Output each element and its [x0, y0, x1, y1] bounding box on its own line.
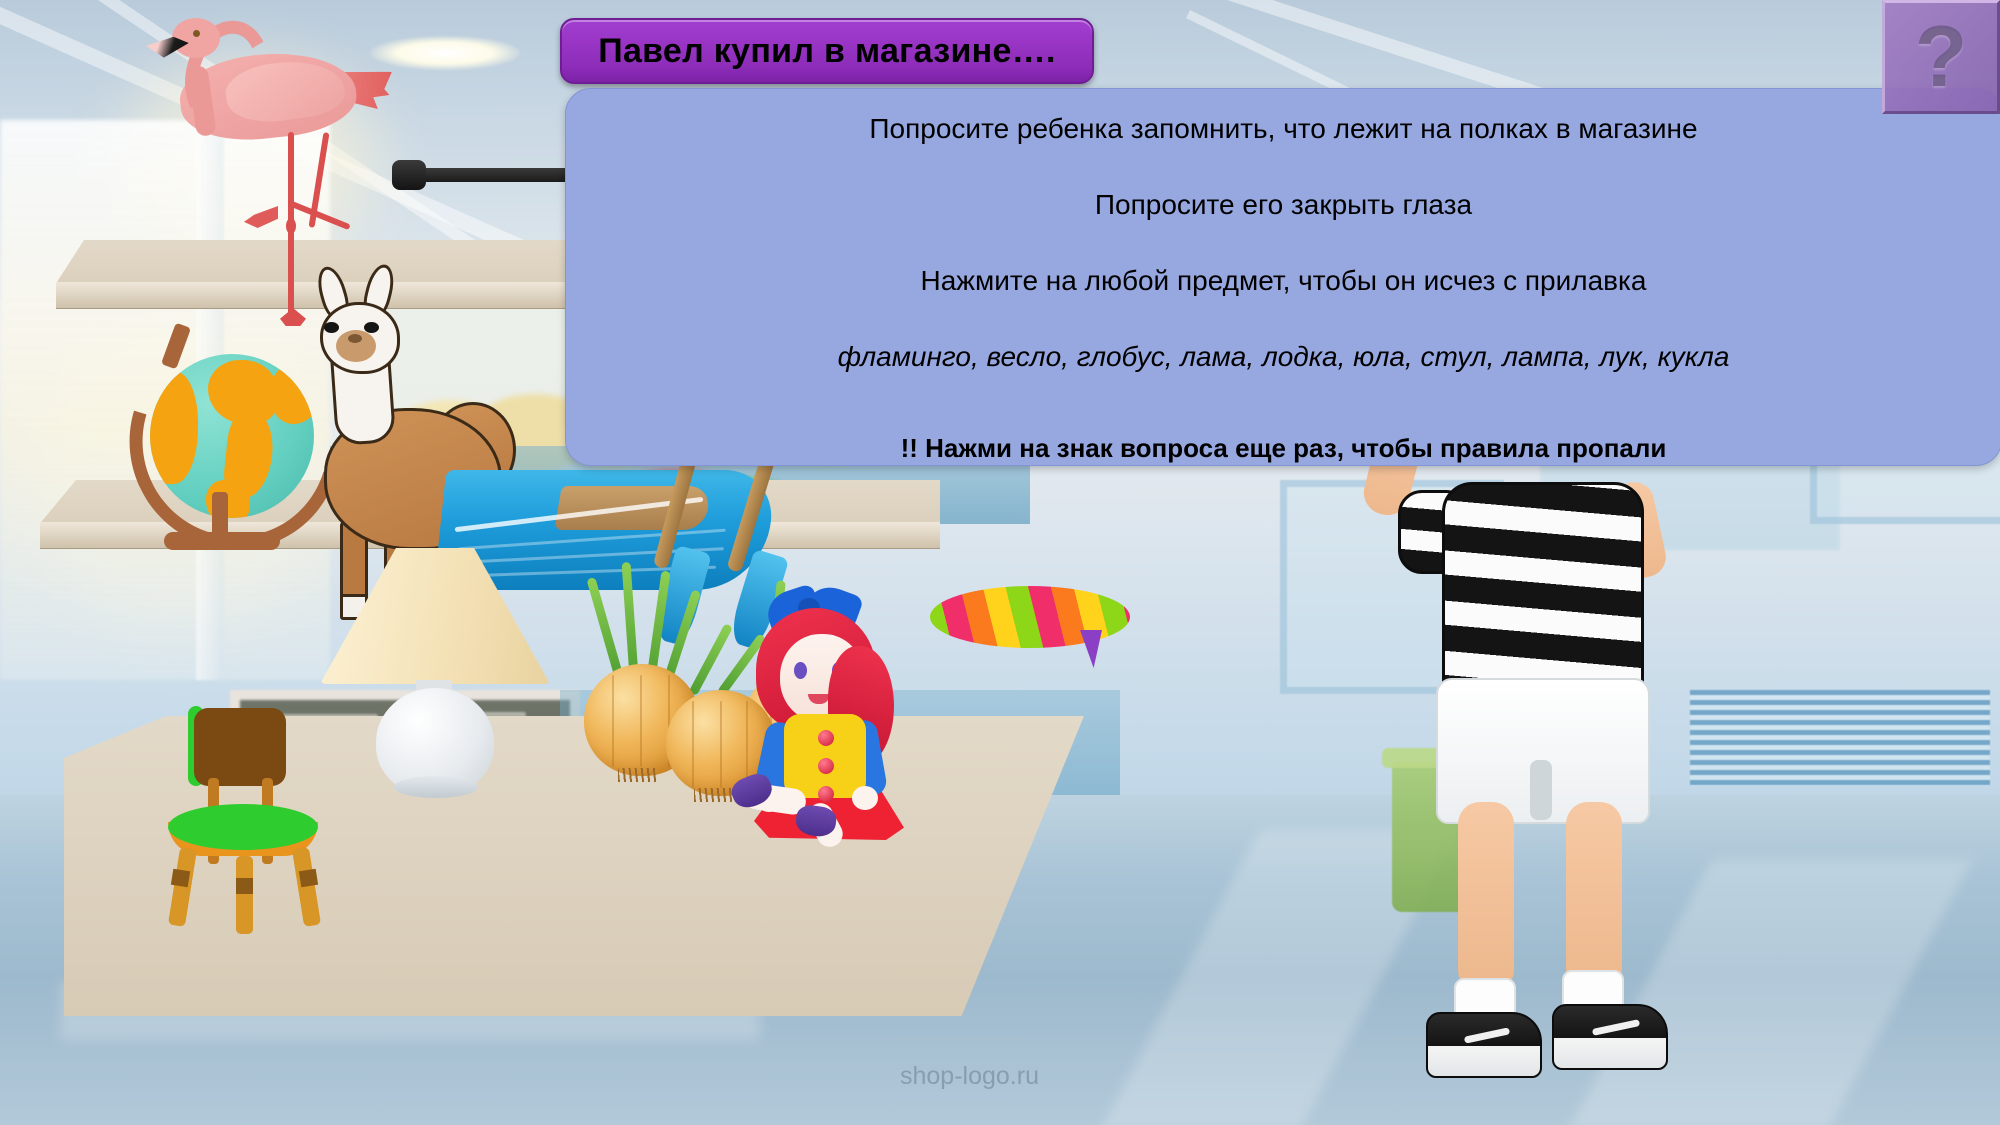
boy-leg: [1566, 802, 1622, 992]
chair-leg-band: [171, 869, 190, 887]
instructions-panel: Попросите ребенка запомнить, что лежит н…: [565, 88, 2000, 466]
llama-eye: [324, 322, 339, 333]
chair-leg: [292, 847, 321, 927]
boy-shorts-gap: [1530, 760, 1552, 820]
llama-nose: [348, 334, 362, 343]
flamingo-head: [172, 18, 220, 58]
instruction-line-1: Попросите ребенка запомнить, что лежит н…: [566, 113, 2000, 145]
boy-leg: [1458, 802, 1514, 992]
slide-title-banner: Павел купил в магазине….: [560, 18, 1094, 84]
watermark: shop-logo.ru: [900, 1062, 1039, 1091]
boy-sneaker: [1426, 1012, 1542, 1078]
instruction-line-3: Нажмите на любой предмет, чтобы он исчез…: [566, 265, 2000, 297]
chair-seat: [168, 804, 318, 850]
hanging-rail: [404, 168, 590, 182]
globe-base: [164, 532, 280, 550]
globe-landmass: [150, 372, 198, 484]
doll-button: [818, 758, 834, 774]
page-title: Павел купил в магазине….: [598, 32, 1056, 71]
doll-button: [818, 730, 834, 746]
instruction-footer: !! Нажми на знак вопроса еще раз, чтобы …: [566, 433, 2000, 464]
item-flamingo[interactable]: [140, 10, 400, 340]
item-spinning-top[interactable]: [930, 586, 1140, 676]
flamingo-eye: [193, 30, 200, 37]
instruction-line-2: Попросите его закрыть глаза: [566, 189, 2000, 221]
flamingo-raised-foot: [244, 206, 278, 228]
onion-roots: [618, 768, 658, 782]
doll-button: [818, 786, 834, 802]
doll-hand: [852, 786, 878, 810]
lamp-foot: [394, 776, 478, 798]
doll-eye: [794, 662, 807, 679]
item-doll[interactable]: [740, 590, 940, 850]
spinning-top-tip: [1080, 630, 1102, 668]
flamingo-raised-leg: [287, 200, 350, 230]
character-boy: [1380, 430, 1800, 1090]
onion-roots: [694, 788, 734, 802]
chair-back: [194, 708, 286, 786]
llama-eye: [364, 322, 379, 333]
question-mark-icon: ?: [1915, 14, 1968, 100]
chair-leg: [168, 847, 197, 927]
chair-leg-band: [236, 878, 253, 894]
instruction-items-list: фламинго, весло, глобус, лама, лодка, юл…: [566, 341, 2000, 373]
lamp-shade: [320, 548, 550, 684]
slide-canvas: Павел купил в магазине…. Попросите ребен…: [0, 0, 2000, 1125]
chair-leg-band: [299, 869, 318, 887]
flamingo-knee: [286, 218, 296, 234]
boy-striped-shirt: [1442, 482, 1644, 704]
chair-leg: [236, 856, 253, 934]
help-question-mark-button[interactable]: ?: [1882, 0, 2000, 114]
boy-sneaker: [1552, 1004, 1668, 1070]
